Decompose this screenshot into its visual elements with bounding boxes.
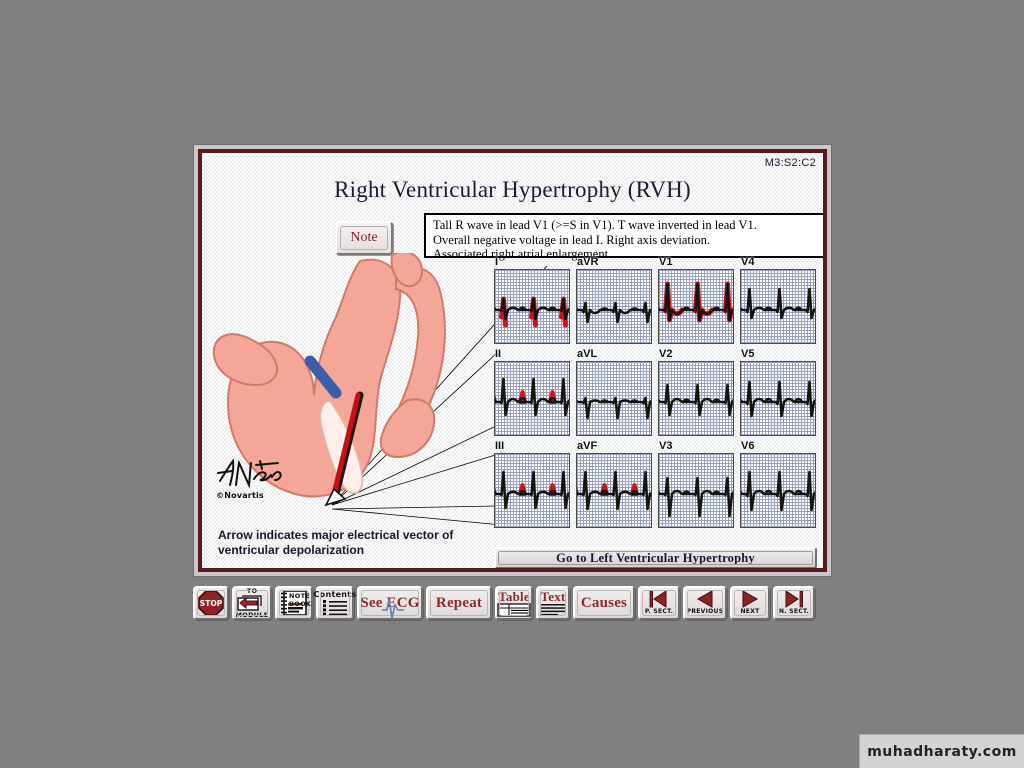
next-button[interactable]: NEXT xyxy=(730,586,770,620)
nav-last-caption: N. SECT. xyxy=(779,608,809,616)
go-to-lvh-button[interactable]: Go to Left Ventricular Hypertrophy xyxy=(494,547,817,569)
text-lines-icon xyxy=(539,603,567,617)
ecg-lead-iii[interactable]: III xyxy=(494,442,570,528)
ecg-lead-ii[interactable]: II xyxy=(494,350,570,436)
ecg-paper xyxy=(740,361,816,436)
nav-last-arrow-icon xyxy=(782,590,806,608)
see-ecg-label: See ECG xyxy=(360,595,419,612)
nav-prev-arrow-icon xyxy=(693,590,717,608)
ecg-lead-label: I xyxy=(495,257,498,268)
table-button[interactable]: Table xyxy=(495,586,533,620)
arrow-caption: Arrow indicates major electrical vector … xyxy=(218,528,498,558)
module-arrow-icon xyxy=(237,595,267,611)
module-button[interactable]: TOMODULE xyxy=(232,586,272,620)
module-top-label: TO xyxy=(247,587,258,595)
ecg-lead-label: aVL xyxy=(577,349,597,360)
ecg-lead-label: V6 xyxy=(741,441,754,452)
ecg-lead-label: II xyxy=(495,349,501,360)
slide-frame: M3:S2:C2 Right Ventricular Hypertrophy (… xyxy=(193,144,832,577)
slide-canvas: M3:S2:C2 Right Ventricular Hypertrophy (… xyxy=(198,149,827,572)
table-grid-icon xyxy=(497,603,531,617)
findings-textbox: Tall R wave in lead V1 (>=S in V1). T wa… xyxy=(424,213,825,258)
bottom-toolbar: STOPTOMODULENOTEBOOKContentsSee ECGRepea… xyxy=(193,583,832,623)
text-button[interactable]: Text xyxy=(536,586,570,620)
nav-prev-caption: PREVIOUS xyxy=(687,608,724,616)
module-bottom-label: MODULE xyxy=(235,611,268,619)
slide-code-label: M3:S2:C2 xyxy=(765,157,816,169)
ecg-paper xyxy=(494,361,570,436)
causes-label: Causes xyxy=(581,595,627,612)
contents-list-icon xyxy=(321,599,349,616)
ecg-lead-label: V4 xyxy=(741,257,754,268)
notebook-bottom-label: BOOK xyxy=(289,600,311,608)
ecg-lead-v4[interactable]: V4 xyxy=(740,258,816,344)
causes-button[interactable]: Causes xyxy=(573,586,635,620)
see-ecg-button[interactable]: See ECG xyxy=(357,586,423,620)
ecg-paper xyxy=(658,269,734,344)
note-button-label: Note xyxy=(350,230,377,246)
nav-next-arrow-icon xyxy=(738,590,762,608)
ecg-paper xyxy=(576,453,652,528)
nav-next-caption: NEXT xyxy=(740,608,759,616)
watermark-text: muhadharaty.com xyxy=(867,744,1017,760)
finding-line-1: Tall R wave in lead V1 (>=S in V1). T wa… xyxy=(433,218,818,233)
ecg-lead-avf[interactable]: aVF xyxy=(576,442,652,528)
prev-sect-button[interactable]: P. SECT. xyxy=(638,586,680,620)
go-to-lvh-label: Go to Left Ventricular Hypertrophy xyxy=(556,551,755,566)
notebook-top-label: NOTE xyxy=(289,592,310,600)
ecg-lead-avl[interactable]: aVL xyxy=(576,350,652,436)
ecg-lead-label: III xyxy=(495,441,504,452)
finding-line-2: Overall negative voltage in lead I. Righ… xyxy=(433,233,818,248)
repeat-button[interactable]: Repeat xyxy=(426,586,492,620)
notebook-button[interactable]: NOTEBOOK xyxy=(275,586,313,620)
ecg-lead-label: aVF xyxy=(577,441,597,452)
previous-button[interactable]: PREVIOUS xyxy=(683,586,727,620)
svg-text:STOP: STOP xyxy=(200,599,223,608)
ecg-lead-label: V2 xyxy=(659,349,672,360)
ecg-lead-label: V1 xyxy=(659,257,672,268)
ecg-lead-label: aVR xyxy=(577,257,598,268)
nav-first-caption: P. SECT. xyxy=(645,608,673,616)
ecg-trace-icon xyxy=(382,594,404,620)
ecg-paper xyxy=(740,453,816,528)
page-title: Right Ventricular Hypertrophy (RVH) xyxy=(202,177,823,203)
ecg-lead-i[interactable]: I xyxy=(494,258,570,344)
text-label: Text xyxy=(541,590,566,603)
ecg-row: IaVRV1V4 xyxy=(494,258,817,344)
ecg-row: IIaVLV2V5 xyxy=(494,350,817,436)
contents-button[interactable]: Contents xyxy=(316,586,354,620)
ecg-paper xyxy=(494,269,570,344)
ecg-lead-avr[interactable]: aVR xyxy=(576,258,652,344)
ecg-lead-v6[interactable]: V6 xyxy=(740,442,816,528)
ecg-lead-label: V5 xyxy=(741,349,754,360)
arrow-caption-line-2: ventricular depolarization xyxy=(218,543,498,558)
nav-first-arrow-icon xyxy=(647,590,671,608)
table-label: Table xyxy=(498,590,530,603)
ecg-lead-label: V3 xyxy=(659,441,672,452)
ecg-paper xyxy=(576,361,652,436)
stop-sign-icon: STOP xyxy=(198,590,224,616)
repeat-label: Repeat xyxy=(436,595,482,612)
ecg-12-lead-grid: IaVRV1V4IIaVLV2V5IIIaVFV3V6 xyxy=(494,258,817,543)
novartis-copyright: ©Novartis xyxy=(216,491,264,500)
stop-button[interactable]: STOP xyxy=(193,586,229,620)
ecg-paper xyxy=(658,453,734,528)
ecg-lead-v1[interactable]: V1 xyxy=(658,258,734,344)
note-button[interactable]: Note xyxy=(335,221,393,255)
next-sect-button[interactable]: N. SECT. xyxy=(773,586,815,620)
netter-signature xyxy=(216,455,286,495)
ecg-paper xyxy=(658,361,734,436)
ecg-row: IIIaVFV3V6 xyxy=(494,442,817,528)
ecg-paper xyxy=(576,269,652,344)
site-watermark: muhadharaty.com xyxy=(859,734,1024,768)
ecg-paper xyxy=(740,269,816,344)
ecg-paper xyxy=(494,453,570,528)
contents-label: Contents xyxy=(314,591,357,599)
ecg-lead-v3[interactable]: V3 xyxy=(658,442,734,528)
ecg-lead-v5[interactable]: V5 xyxy=(740,350,816,436)
arrow-caption-line-1: Arrow indicates major electrical vector … xyxy=(218,528,498,543)
ecg-lead-v2[interactable]: V2 xyxy=(658,350,734,436)
